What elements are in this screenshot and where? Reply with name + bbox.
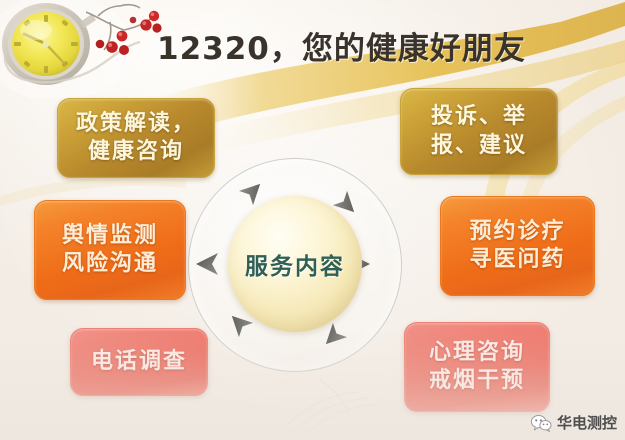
service-box-appointment-line-2: 寻医问药 (469, 246, 565, 274)
center-label: 服务内容 (245, 247, 345, 281)
watermark-text: 华电测控 (557, 412, 617, 433)
service-box-monitoring-line-2: 风险沟通 (62, 250, 158, 278)
page-title: 12320，您的健康好朋友 (157, 23, 526, 68)
slide-root: 12320，您的健康好朋友 (0, 0, 625, 440)
service-box-appointment[interactable]: 预约诊疗 寻医问药 (440, 196, 595, 296)
center-circle: 服务内容 (228, 196, 362, 332)
service-box-complaint-line-1: 投诉、举 (431, 103, 527, 131)
service-box-monitoring[interactable]: 舆情监测 风险沟通 (34, 200, 186, 300)
service-box-monitoring-line-1: 舆情监测 (62, 222, 158, 250)
service-box-policy-line-2: 健康咨询 (88, 138, 184, 166)
service-box-complaint-line-2: 报、建议 (431, 132, 527, 160)
wechat-icon (530, 414, 552, 432)
watermark: 华电测控 (530, 412, 617, 433)
service-box-policy-line-1: 政策解读， (76, 110, 196, 138)
service-box-complaint[interactable]: 投诉、举 报、建议 (400, 88, 558, 175)
service-box-policy[interactable]: 政策解读， 健康咨询 (57, 98, 215, 178)
service-box-appointment-line-1: 预约诊疗 (469, 218, 565, 246)
